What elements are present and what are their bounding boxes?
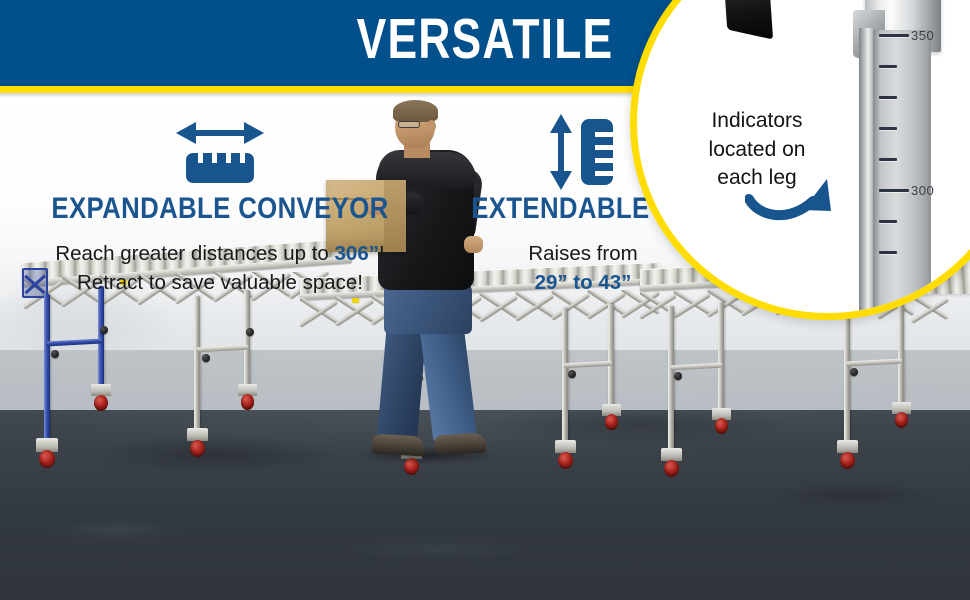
caster-wheel [36,438,58,468]
scale-tick-minor [879,251,897,254]
curved-arrow-icon [745,167,843,230]
leg-adjust-knob [568,370,576,378]
scale-label-300: 300 [911,183,934,198]
scale-tick-minor [879,220,897,223]
caster-wheel-tire [241,394,255,410]
expand-horizontal-ruler-icon [20,112,420,192]
leg-adjust-knob [51,350,59,358]
detail-callout-circle: 350 300 Indicators located on each leg [630,0,970,320]
caster-wheel-tire [558,452,573,469]
caster-wheel-tire [94,395,108,411]
leg-post-inner-tube: 350 300 [873,30,931,320]
worker-back-leg [377,318,427,443]
callout-content: 350 300 Indicators located on each leg [637,0,970,313]
worker-ear [427,120,436,132]
scale-tick-minor [879,65,897,68]
scale-tick-minor [879,158,897,161]
conveyor-leg [608,304,614,410]
leg-adjust-knob [100,326,108,334]
caster-wheel-tire [840,452,855,469]
leg-adjust-knob [674,372,682,380]
scale-tick-major [879,189,909,192]
caster-wheel-tire [715,418,729,434]
leg-adjust-knob [850,368,858,376]
feature-title: EXPANDABLE CONVEYOR [48,192,392,226]
feature-line-1-suffix: ! [379,242,385,265]
leg-cross-brace [196,345,248,353]
scale-tick-major [879,34,909,37]
leg-cross-brace [670,363,722,371]
leg-cross-brace [846,359,902,367]
caster-wheel-tire [190,440,205,457]
leg-cross-brace [46,339,102,347]
scale-label-350: 350 [911,28,934,43]
conveyor-leg [844,302,850,448]
leg-post-edge [859,28,874,320]
conveyor-leg [244,290,250,390]
caster-wheel [238,384,257,410]
caster-wheel-tire [39,450,55,468]
caster-wheel [837,440,858,469]
feature-line-2: Retract to save valuable space! [20,269,420,296]
conveyor-leg [668,306,674,456]
conveyor-leg [562,308,568,448]
caster-wheel [602,404,621,430]
leg-adjust-knob [202,354,210,362]
caster-wheel [187,428,208,457]
scale-tick-minor [879,127,897,130]
conveyor-leg [194,296,200,436]
adjustment-knob-lever [723,0,773,40]
conveyor-leg [718,302,724,414]
conveyor-leg [44,294,50,446]
callout-caption-line-1: Indicators [667,107,847,136]
promo-banner: EXPANDABLE CONVEYOR Reach greater distan… [0,0,970,600]
feature-line-1-prefix: Reach greater distances up to [55,242,334,265]
caster-wheel [91,384,111,411]
worker-shoe [372,434,425,457]
leg-cross-brace [564,361,612,369]
scale-tick-minor [879,96,897,99]
caster-wheel [712,408,731,434]
callout-caption-line-2: located on [667,136,847,165]
caster-wheel [555,440,576,469]
leg-adjust-knob [246,328,254,336]
caster-wheel-tire [895,412,909,428]
feature-line-1-value: 306” [335,242,379,265]
caster-wheel [661,448,682,477]
caster-wheel-tire [664,460,679,477]
worker-shoe [434,433,487,456]
caster-wheel [892,402,911,428]
feature-line-1: Reach greater distances up to 306”! [20,240,420,267]
caster-wheel-tire [605,414,619,430]
feature-expandable-conveyor: EXPANDABLE CONVEYOR Reach greater distan… [20,112,420,296]
